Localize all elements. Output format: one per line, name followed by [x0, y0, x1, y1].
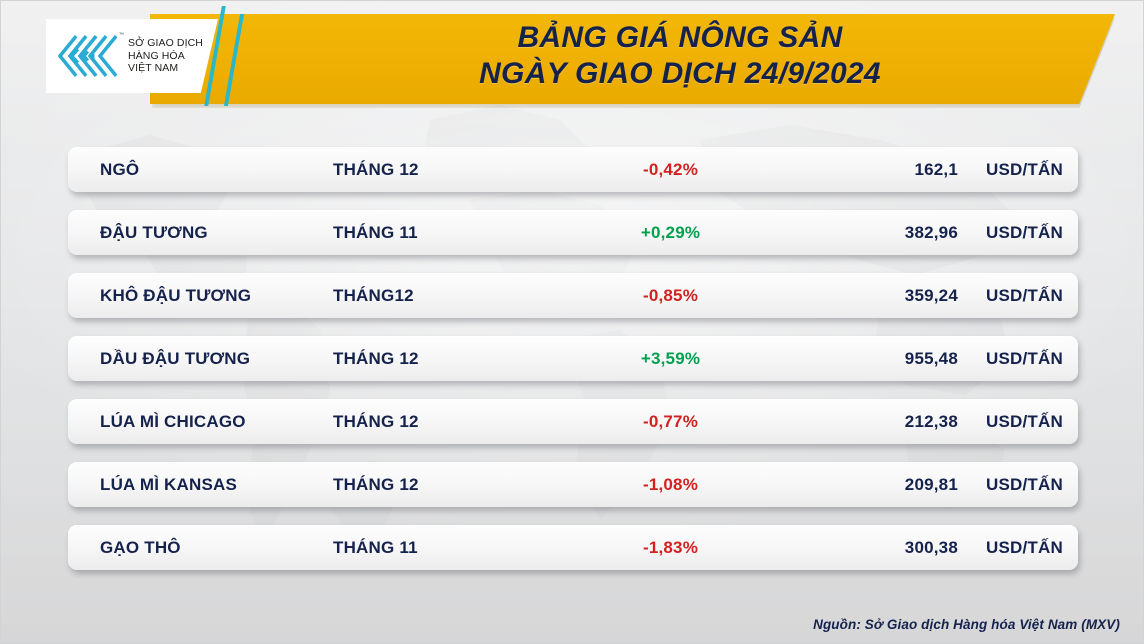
- row-commodity-name: GẠO THÔ: [68, 538, 333, 558]
- row-unit: USD/TẤN: [958, 223, 1076, 243]
- row-commodity-name: KHÔ ĐẬU TƯƠNG: [68, 286, 333, 306]
- table-row[interactable]: KHÔ ĐẬU TƯƠNGTHÁNG12-0,85%359,24USD/TẤN: [68, 273, 1078, 318]
- table-row[interactable]: DẦU ĐẬU TƯƠNGTHÁNG 12+3,59%955,48USD/TẤN: [68, 336, 1078, 381]
- row-contract-month: THÁNG 12: [333, 349, 558, 369]
- price-board-page: ™ SỞ GIAO DỊCH HÀNG HÓA VIỆT NAM BẢNG GI…: [0, 0, 1144, 644]
- row-change-percent: +0,29%: [558, 223, 783, 243]
- row-change-percent: -1,83%: [558, 538, 783, 558]
- row-commodity-name: LÚA MÌ CHICAGO: [68, 412, 333, 432]
- row-contract-month: THÁNG 12: [333, 475, 558, 495]
- row-contract-month: THÁNG 12: [333, 160, 558, 180]
- table-row[interactable]: ĐẬU TƯƠNGTHÁNG 11+0,29%382,96USD/TẤN: [68, 210, 1078, 255]
- row-price: 162,1: [783, 160, 958, 180]
- row-price: 955,48: [783, 349, 958, 369]
- page-title-line-1: BẢNG GIÁ NÔNG SẢN: [300, 20, 1060, 56]
- row-contract-month: THÁNG 11: [333, 223, 558, 243]
- source-note: Nguồn: Sở Giao dịch Hàng hóa Việt Nam (M…: [813, 617, 1120, 632]
- row-commodity-name: LÚA MÌ KANSAS: [68, 475, 333, 495]
- row-unit: USD/TẤN: [958, 286, 1076, 306]
- row-contract-month: THÁNG 11: [333, 538, 558, 558]
- row-commodity-name: ĐẬU TƯƠNG: [68, 223, 333, 243]
- table-row[interactable]: LÚA MÌ CHICAGOTHÁNG 12-0,77%212,38USD/TẤ…: [68, 399, 1078, 444]
- row-contract-month: THÁNG12: [333, 286, 558, 306]
- row-price: 359,24: [783, 286, 958, 306]
- trademark-symbol: ™: [119, 32, 124, 38]
- brand-line-1: SỞ GIAO DỊCH: [128, 37, 203, 50]
- row-price: 382,96: [783, 223, 958, 243]
- page-title: BẢNG GIÁ NÔNG SẢN NGÀY GIAO DỊCH 24/9/20…: [300, 20, 1060, 92]
- row-price: 212,38: [783, 412, 958, 432]
- row-unit: USD/TẤN: [958, 475, 1076, 495]
- mxv-maze-logo-icon: [56, 34, 118, 78]
- table-row[interactable]: GẠO THÔTHÁNG 11-1,83%300,38USD/TẤN: [68, 525, 1078, 570]
- row-commodity-name: NGÔ: [68, 160, 333, 180]
- row-unit: USD/TẤN: [958, 538, 1076, 558]
- row-change-percent: -1,08%: [558, 475, 783, 495]
- row-unit: USD/TẤN: [958, 349, 1076, 369]
- row-change-percent: +3,59%: [558, 349, 783, 369]
- page-title-line-2: NGÀY GIAO DỊCH 24/9/2024: [300, 56, 1060, 92]
- row-contract-month: THÁNG 12: [333, 412, 558, 432]
- row-unit: USD/TẤN: [958, 412, 1076, 432]
- page-header: ™ SỞ GIAO DỊCH HÀNG HÓA VIỆT NAM BẢNG GI…: [0, 0, 1144, 118]
- table-row[interactable]: LÚA MÌ KANSASTHÁNG 12-1,08%209,81USD/TẤN: [68, 462, 1078, 507]
- row-change-percent: -0,85%: [558, 286, 783, 306]
- brand-logo-text: SỞ GIAO DỊCH HÀNG HÓA VIỆT NAM: [128, 37, 203, 75]
- brand-line-3: VIỆT NAM: [128, 62, 203, 75]
- price-table: NGÔTHÁNG 12-0,42%162,1USD/TẤNĐẬU TƯƠNGTH…: [68, 147, 1078, 588]
- row-commodity-name: DẦU ĐẬU TƯƠNG: [68, 349, 333, 369]
- brand-logo-card: ™ SỞ GIAO DỊCH HÀNG HÓA VIỆT NAM: [46, 19, 218, 93]
- row-unit: USD/TẤN: [958, 160, 1076, 180]
- row-price: 209,81: [783, 475, 958, 495]
- row-change-percent: -0,77%: [558, 412, 783, 432]
- table-row[interactable]: NGÔTHÁNG 12-0,42%162,1USD/TẤN: [68, 147, 1078, 192]
- row-change-percent: -0,42%: [558, 160, 783, 180]
- brand-line-2: HÀNG HÓA: [128, 50, 203, 63]
- row-price: 300,38: [783, 538, 958, 558]
